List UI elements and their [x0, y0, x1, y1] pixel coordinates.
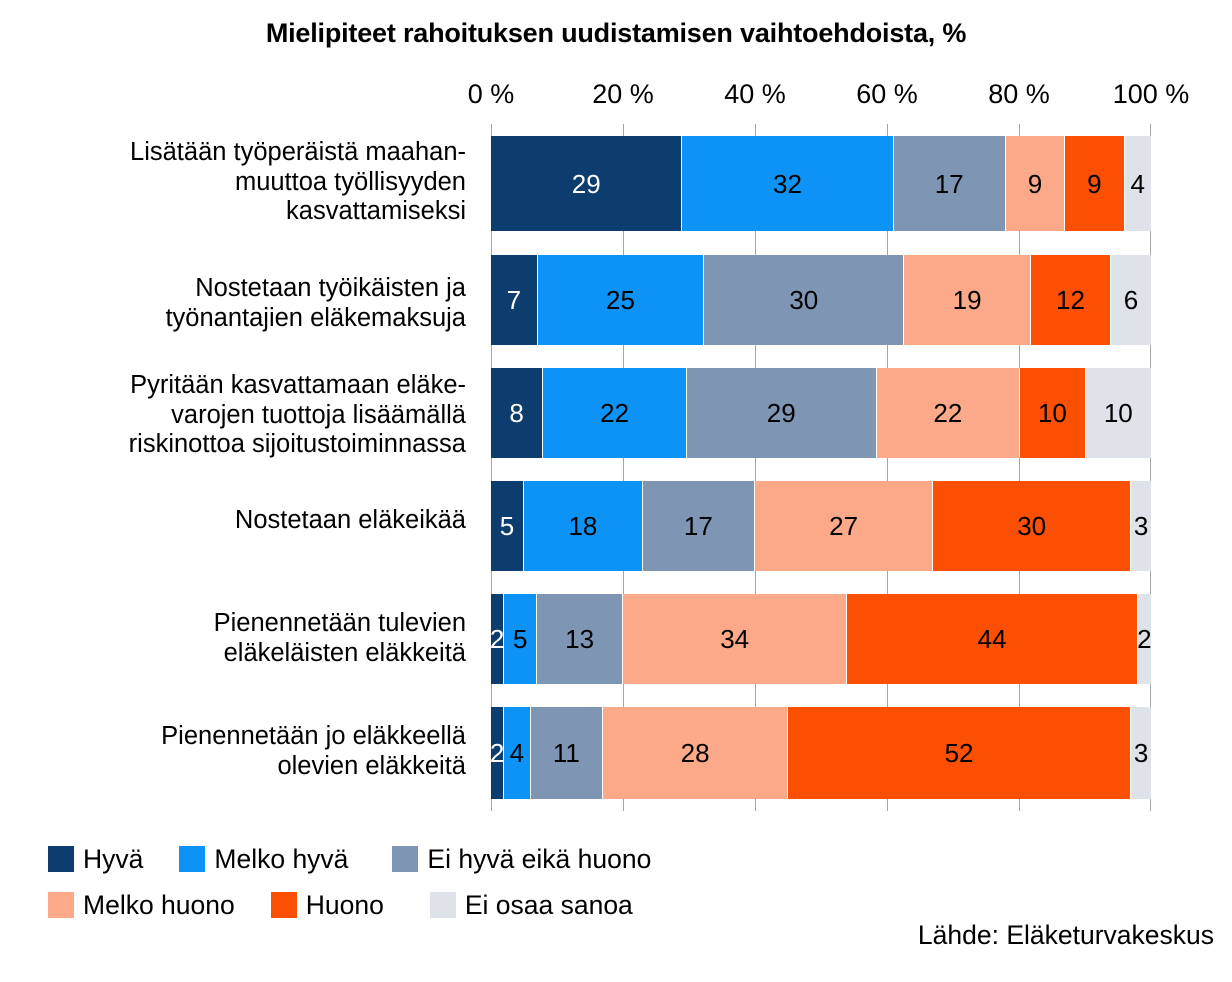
category-label-line: varojen tuottoja lisäämällä [0, 401, 466, 431]
bar-segment-value: 2 [1138, 626, 1151, 652]
category-label: Nostetaan eläkeikää [0, 506, 466, 536]
x-axis-tick-100: 100 % [1113, 79, 1190, 110]
x-axis-tick-60: 60 % [856, 79, 918, 110]
bar-segment-value: 2 [491, 626, 504, 652]
bar-segment[interactable]: 32 [682, 136, 893, 231]
bar-segment[interactable]: 5 [504, 594, 537, 684]
bar-segment[interactable]: 3 [1131, 707, 1151, 799]
legend-item[interactable]: Huono [271, 890, 384, 921]
category-label-line: kasvattamiseksi [0, 197, 466, 227]
legend-item[interactable]: Hyvä [48, 844, 143, 875]
category-label-line: olevien eläkkeitä [0, 752, 466, 782]
category-label-line: Pyritään kasvattamaan eläke- [0, 371, 466, 401]
bar-segment[interactable]: 4 [504, 707, 530, 799]
bar-segment[interactable]: 44 [847, 594, 1137, 684]
bar-segment[interactable]: 17 [643, 481, 755, 571]
category-label: Pienennetään tulevieneläkeläisten eläkke… [0, 609, 466, 668]
bar-segment[interactable]: 6 [1111, 255, 1151, 345]
bar-segment-value: 12 [1056, 287, 1085, 313]
x-axis-tick-0: 0 % [468, 79, 515, 110]
plot-area: 2932179947253019126822292210105181727303… [491, 124, 1151, 811]
bar-segment[interactable]: 8 [491, 368, 543, 458]
legend-label: Melko huono [83, 890, 235, 921]
bar-segment-value: 11 [553, 740, 580, 766]
legend-label: Huono [306, 890, 384, 921]
legend-row: Melko huonoHuonoEi osaa sanoa [48, 882, 1048, 928]
legend-row: HyväMelko hyväEi hyvä eikä huono [48, 836, 1048, 882]
legend-item[interactable]: Ei hyvä eikä huono [392, 844, 651, 875]
bar-segment[interactable]: 22 [543, 368, 687, 458]
x-axis-tick-40: 40 % [724, 79, 786, 110]
chart-container: Mielipiteet rahoituksen uudistamisen vai… [0, 0, 1232, 982]
bar-row[interactable]: 82229221010 [491, 368, 1151, 458]
bar-segment[interactable]: 10 [1020, 368, 1085, 458]
legend-label: Ei hyvä eikä huono [427, 844, 651, 875]
bar-segment-value: 18 [568, 513, 597, 539]
bar-segment-value: 29 [767, 400, 796, 426]
bar-segment-value: 25 [606, 287, 635, 313]
category-label-line: Nostetaan eläkeikää [0, 506, 466, 536]
bar-segment-value: 7 [507, 287, 521, 313]
bar-segment-value: 44 [978, 626, 1007, 652]
bar-row[interactable]: 293217994 [491, 136, 1151, 231]
bar-segment[interactable]: 4 [1125, 136, 1151, 231]
bar-segment[interactable]: 2 [491, 594, 504, 684]
bar-segment[interactable]: 11 [531, 707, 604, 799]
legend-swatch-icon [392, 846, 418, 872]
category-label-line: työnantajien eläkemaksuja [0, 304, 466, 334]
bar-segment[interactable]: 30 [933, 481, 1131, 571]
legend-swatch-icon [179, 846, 205, 872]
bar-segment[interactable]: 5 [491, 481, 524, 571]
bar-row[interactable]: 7253019126 [491, 255, 1151, 345]
bar-segment-value: 17 [684, 513, 713, 539]
legend-swatch-icon [48, 892, 74, 918]
bar-segment-value: 30 [789, 287, 818, 313]
bar-segment[interactable]: 7 [491, 255, 538, 345]
bar-segment-value: 22 [933, 400, 962, 426]
bar-segment[interactable]: 30 [704, 255, 904, 345]
category-label-line: eläkeläisten eläkkeitä [0, 639, 466, 669]
bar-segment-value: 10 [1038, 400, 1067, 426]
bar-segment[interactable]: 28 [603, 707, 788, 799]
bar-segment[interactable]: 22 [877, 368, 1021, 458]
page-title: Mielipiteet rahoituksen uudistamisen vai… [0, 18, 1232, 49]
bar-rows: 2932179947253019126822292210105181727303… [491, 124, 1151, 811]
y-axis-category-labels: Lisätään työperäistä maahan-muuttoa työl… [0, 124, 478, 811]
x-axis-tick-80: 80 % [988, 79, 1050, 110]
category-label-line: Pienennetään jo eläkkeellä [0, 722, 466, 752]
bar-segment[interactable]: 9 [1065, 136, 1124, 231]
bar-segment-value: 8 [509, 400, 523, 426]
bar-segment-value: 5 [500, 513, 514, 539]
category-label: Pienennetään jo eläkkeelläolevien eläkke… [0, 722, 466, 781]
bar-segment[interactable]: 2 [491, 707, 504, 799]
category-label-line: Lisätään työperäistä maahan- [0, 138, 466, 168]
bar-segment-value: 9 [1087, 171, 1101, 197]
legend-swatch-icon [430, 892, 456, 918]
bar-segment[interactable]: 52 [788, 707, 1131, 799]
bar-segment-value: 19 [953, 287, 982, 313]
x-axis-tick-20: 20 % [592, 79, 654, 110]
bar-segment-value: 13 [565, 626, 594, 652]
bar-segment[interactable]: 2 [1138, 594, 1151, 684]
bar-segment[interactable]: 3 [1131, 481, 1151, 571]
bar-segment-value: 2 [491, 740, 504, 766]
source-note: Lähde: Eläketurvakeskus [918, 920, 1214, 951]
category-label-line: riskinottoa sijoitustoiminnassa [0, 430, 466, 460]
bar-segment[interactable]: 34 [623, 594, 847, 684]
bar-segment-value: 28 [681, 740, 710, 766]
legend-item[interactable]: Melko hyvä [179, 844, 348, 875]
bar-segment[interactable]: 29 [687, 368, 877, 458]
category-label: Lisätään työperäistä maahan-muuttoa työl… [0, 138, 466, 227]
legend-item[interactable]: Melko huono [48, 890, 235, 921]
bar-row[interactable]: 241128523 [491, 707, 1151, 799]
bar-segment[interactable]: 9 [1006, 136, 1065, 231]
bar-segment-value: 4 [1131, 171, 1145, 197]
bar-segment-value: 4 [510, 740, 524, 766]
bar-segment-value: 6 [1124, 287, 1138, 313]
category-label-line: Nostetaan työikäisten ja [0, 274, 466, 304]
category-label-line: muuttoa työllisyyden [0, 168, 466, 198]
bar-segment-value: 27 [829, 513, 858, 539]
bar-segment-value: 29 [572, 171, 601, 197]
bar-segment-value: 17 [935, 171, 964, 197]
bar-segment-value: 9 [1028, 171, 1042, 197]
legend-item[interactable]: Ei osaa sanoa [430, 890, 633, 921]
bar-segment-value: 34 [720, 626, 749, 652]
bar-segment-value: 52 [945, 740, 974, 766]
bar-segment-value: 5 [513, 626, 527, 652]
category-label-line: Pienennetään tulevien [0, 609, 466, 639]
bar-segment[interactable]: 29 [491, 136, 682, 231]
legend-swatch-icon [271, 892, 297, 918]
bar-row[interactable]: 251334442 [491, 594, 1151, 684]
bar-segment-value: 10 [1104, 400, 1133, 426]
legend-label: Hyvä [83, 844, 143, 875]
bar-segment[interactable]: 10 [1086, 368, 1151, 458]
x-axis-tick-labels: 0 %20 %40 %60 %80 %100 % [491, 79, 1151, 113]
bar-segment[interactable]: 27 [755, 481, 933, 571]
bar-segment-value: 30 [1017, 513, 1046, 539]
legend-label: Ei osaa sanoa [465, 890, 633, 921]
bar-segment[interactable]: 19 [904, 255, 1031, 345]
category-label: Pyritään kasvattamaan eläke-varojen tuot… [0, 371, 466, 460]
bar-segment[interactable]: 12 [1031, 255, 1111, 345]
bar-segment[interactable]: 13 [537, 594, 623, 684]
category-label: Nostetaan työikäisten jatyönantajien elä… [0, 274, 466, 333]
bar-segment-value: 3 [1134, 513, 1148, 539]
bar-segment-value: 32 [773, 171, 802, 197]
bar-segment[interactable]: 17 [894, 136, 1006, 231]
bar-row[interactable]: 5181727303 [491, 481, 1151, 571]
chart-legend: HyväMelko hyväEi hyvä eikä huonoMelko hu… [48, 836, 1048, 928]
bar-segment[interactable]: 25 [538, 255, 705, 345]
legend-label: Melko hyvä [214, 844, 348, 875]
bar-segment-value: 22 [600, 400, 629, 426]
bar-segment-value: 3 [1134, 740, 1148, 766]
bar-segment[interactable]: 18 [524, 481, 643, 571]
legend-swatch-icon [48, 846, 74, 872]
